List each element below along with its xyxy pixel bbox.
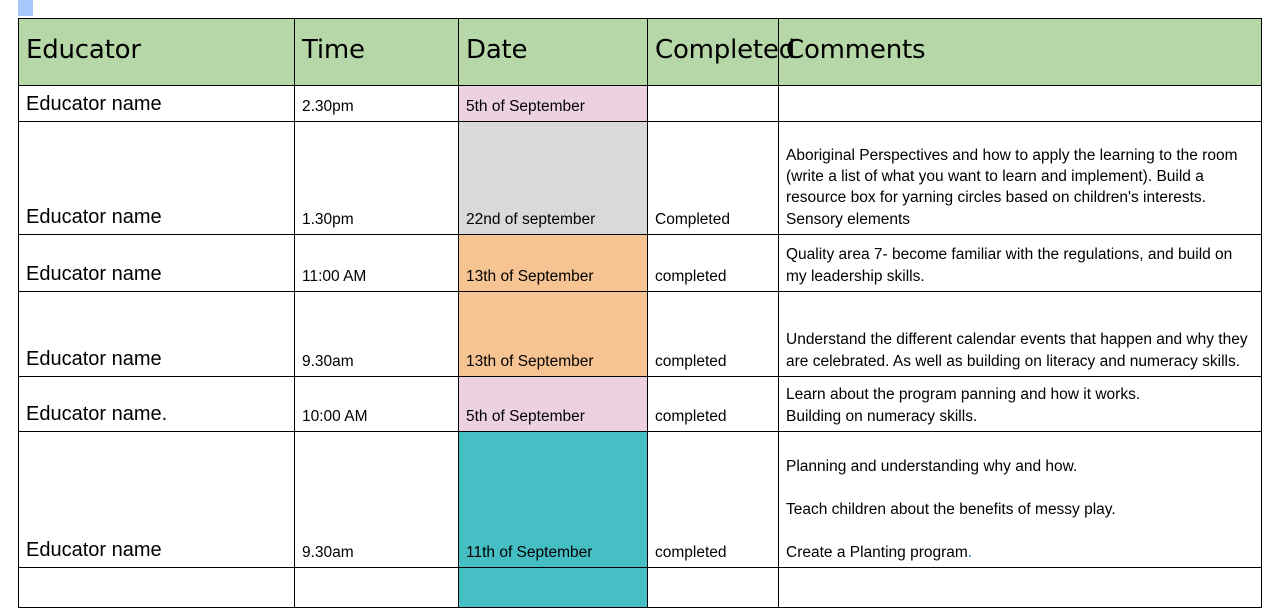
table-container: Educator Time Date Completed Comments Ed… (18, 18, 1261, 608)
cell-completed[interactable] (648, 568, 779, 608)
cell-date[interactable]: 11th of September (459, 432, 648, 568)
table-body: Educator name 2.30pm 5th of September Ed… (19, 86, 1262, 608)
comment-trailing-period: . (968, 544, 972, 561)
cell-completed[interactable]: Completed (648, 122, 779, 235)
cell-completed[interactable]: completed (648, 432, 779, 568)
cell-educator[interactable]: Educator name (19, 122, 295, 235)
cell-time[interactable] (295, 568, 459, 608)
cell-completed[interactable] (648, 86, 779, 122)
cell-date[interactable]: 5th of September (459, 377, 648, 432)
cell-comments[interactable] (779, 86, 1262, 122)
table-row[interactable]: Educator name 9.30am 13th of September c… (19, 292, 1262, 377)
cell-date[interactable]: 22nd of september (459, 122, 648, 235)
cell-date[interactable] (459, 568, 648, 608)
column-header-completed: Completed (648, 19, 779, 86)
cell-time[interactable]: 2.30pm (295, 86, 459, 122)
table-row[interactable]: Educator name 1.30pm 22nd of september C… (19, 122, 1262, 235)
cell-comments[interactable]: Understand the different calendar events… (779, 292, 1262, 377)
cell-time[interactable]: 1.30pm (295, 122, 459, 235)
cell-educator[interactable]: Educator name (19, 292, 295, 377)
cell-time[interactable]: 9.30am (295, 432, 459, 568)
comment-line-1: Planning and understanding why and how. (786, 458, 1077, 475)
cell-comments[interactable]: Quality area 7- become familiar with the… (779, 235, 1262, 292)
cell-time[interactable]: 11:00 AM (295, 235, 459, 292)
cell-completed[interactable]: completed (648, 377, 779, 432)
cell-date[interactable]: 13th of September (459, 235, 648, 292)
cell-comments[interactable] (779, 568, 1262, 608)
column-header-date: Date (459, 19, 648, 86)
educator-development-table: Educator Time Date Completed Comments Ed… (18, 18, 1262, 608)
cell-time[interactable]: 9.30am (295, 292, 459, 377)
comment-line-3: Create a Planting program (786, 544, 968, 561)
cell-educator[interactable]: Educator name (19, 86, 295, 122)
cell-educator[interactable]: Educator name. (19, 377, 295, 432)
cell-comments[interactable]: Learn about the program panning and how … (779, 377, 1262, 432)
table-header-row: Educator Time Date Completed Comments (19, 19, 1262, 86)
text-cursor-marker (18, 0, 33, 16)
cell-educator[interactable]: Educator name (19, 235, 295, 292)
column-header-time: Time (295, 19, 459, 86)
cell-time[interactable]: 10:00 AM (295, 377, 459, 432)
cell-comments[interactable]: Aboriginal Perspectives and how to apply… (779, 122, 1262, 235)
cell-educator[interactable] (19, 568, 295, 608)
cell-completed[interactable]: completed (648, 235, 779, 292)
document-page: Educator Time Date Completed Comments Ed… (0, 0, 1280, 524)
column-header-comments: Comments (779, 19, 1262, 86)
table-row[interactable]: Educator name 9.30am 11th of September c… (19, 432, 1262, 568)
table-row[interactable]: Educator name. 10:00 AM 5th of September… (19, 377, 1262, 432)
table-row[interactable]: Educator name 2.30pm 5th of September (19, 86, 1262, 122)
comment-line-2: Teach children about the benefits of mes… (786, 501, 1116, 518)
table-row-partial[interactable] (19, 568, 1262, 608)
table-row[interactable]: Educator name 11:00 AM 13th of September… (19, 235, 1262, 292)
cell-comments-multiline[interactable]: Planning and understanding why and how. … (779, 432, 1262, 568)
column-header-educator: Educator (19, 19, 295, 86)
cell-date[interactable]: 5th of September (459, 86, 648, 122)
cell-completed[interactable]: completed (648, 292, 779, 377)
cell-educator[interactable]: Educator name (19, 432, 295, 568)
cell-date[interactable]: 13th of September (459, 292, 648, 377)
